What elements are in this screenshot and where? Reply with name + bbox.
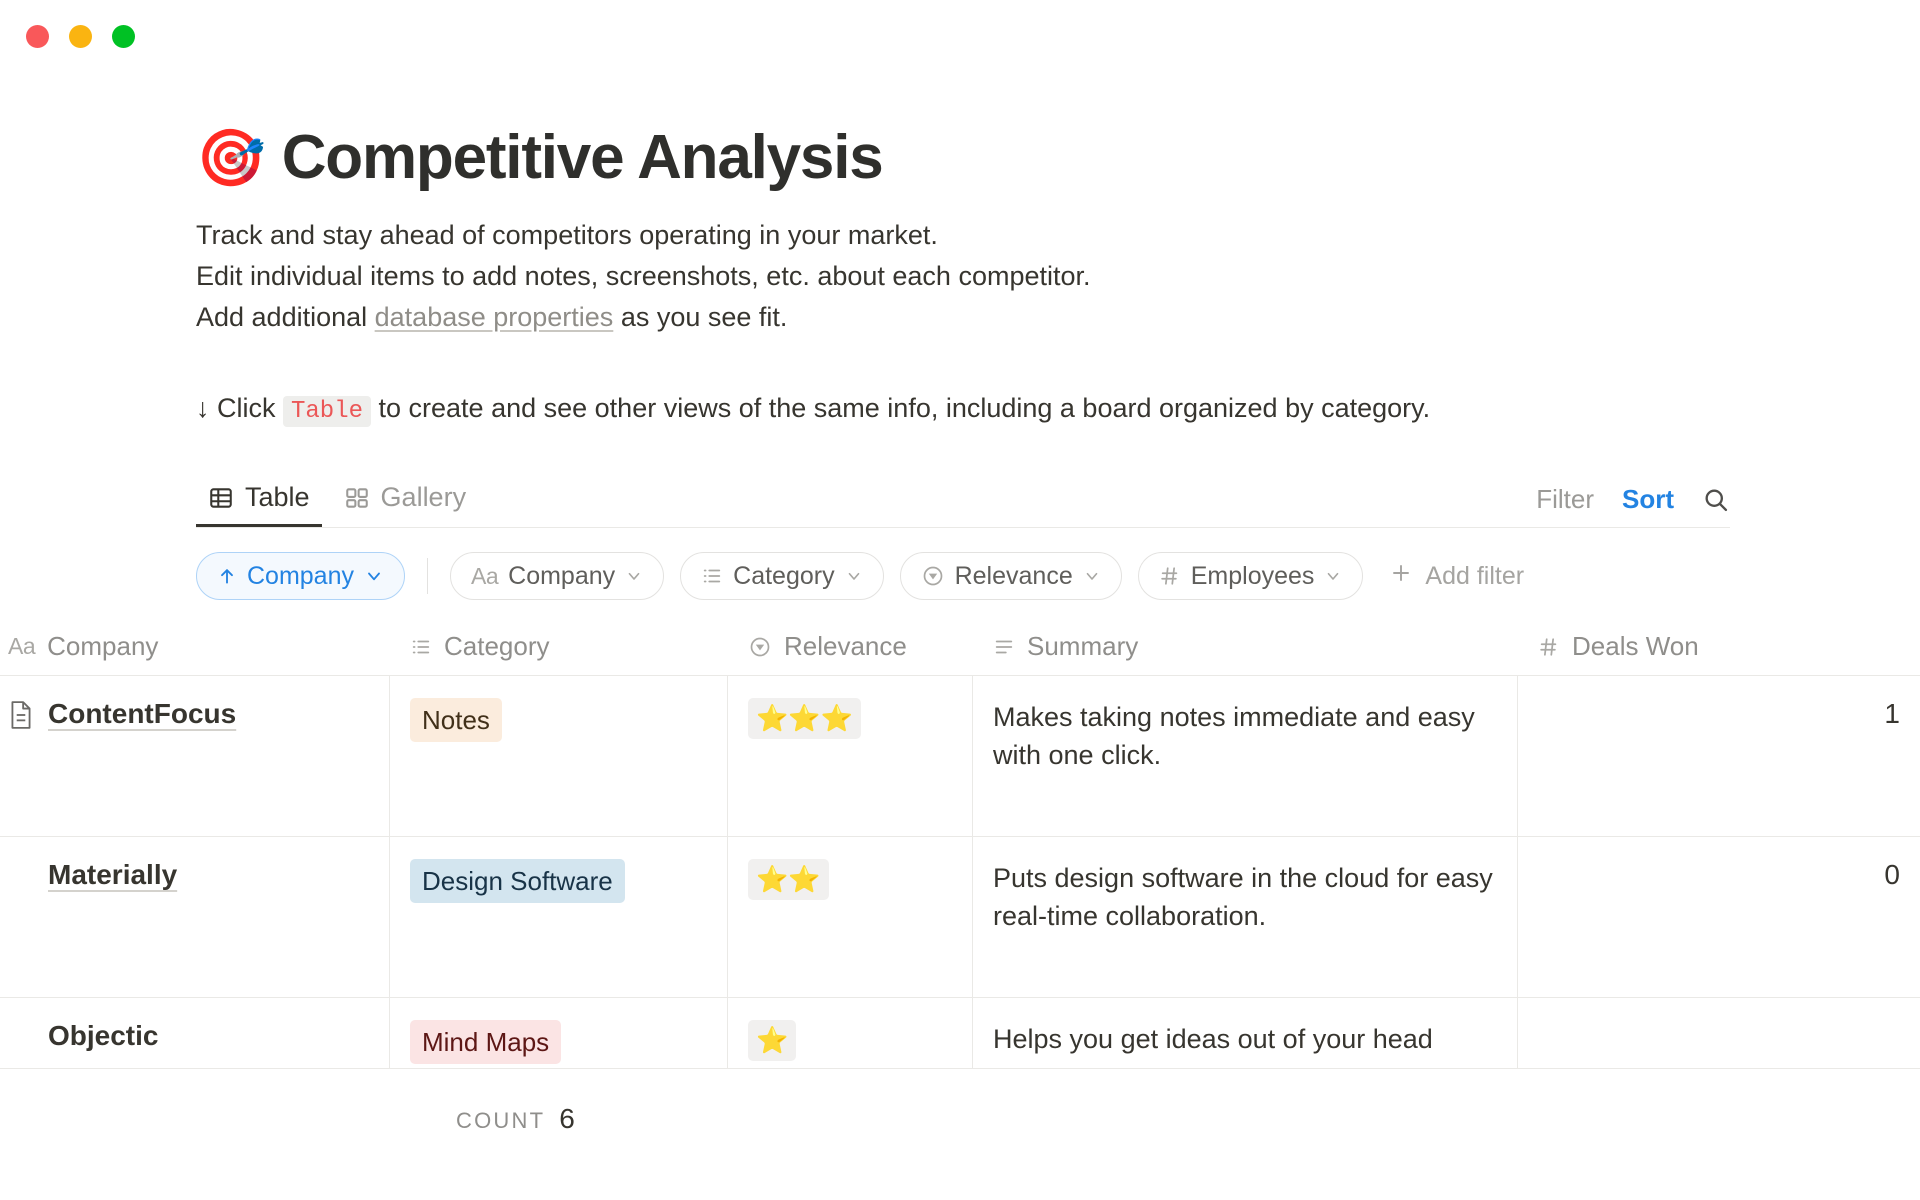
window-titlebar	[0, 0, 1920, 72]
column-header-deals-won[interactable]: Deals Won	[1518, 618, 1920, 676]
plus-icon	[1389, 561, 1413, 592]
description-prefix: Add additional	[196, 302, 375, 332]
column-header-summary[interactable]: Summary	[973, 618, 1518, 676]
cell-relevance[interactable]: ⭐⭐⭐	[728, 676, 973, 836]
tab-table[interactable]: Table	[196, 478, 322, 527]
description-line-1: Track and stay ahead of competitors oper…	[196, 215, 1920, 256]
cell-category[interactable]: Mind Maps	[390, 998, 728, 1068]
table-row[interactable]: Materially Design Software ⭐⭐ Puts desig…	[0, 837, 1920, 998]
aa-icon: Aa	[8, 633, 35, 660]
tab-table-label: Table	[245, 482, 310, 513]
sort-chip-label: Company	[247, 562, 354, 591]
callout-prefix: ↓ Click	[196, 393, 283, 423]
traffic-lights	[26, 25, 135, 48]
select-icon	[921, 564, 945, 588]
column-header-relevance-label: Relevance	[784, 631, 907, 662]
cell-category[interactable]: Notes	[390, 676, 728, 836]
summary-text: Puts design software in the cloud for ea…	[993, 863, 1493, 931]
cell-summary[interactable]: Puts design software in the cloud for ea…	[973, 837, 1518, 997]
search-icon[interactable]	[1702, 486, 1730, 514]
filter-chip-row: Company Aa Company	[196, 552, 1920, 600]
database-properties-link[interactable]: database properties	[375, 302, 614, 332]
tab-gallery[interactable]: Gallery	[332, 478, 479, 527]
filter-chip-employees[interactable]: Employees	[1138, 552, 1364, 600]
deals-won-value: 1	[1884, 698, 1900, 836]
table-row[interactable]: Objectic Mind Maps ⭐ Helps you get ideas…	[0, 998, 1920, 1069]
column-header-summary-label: Summary	[1027, 631, 1138, 662]
table-callout: ↓ Click Table to create and see other vi…	[196, 388, 1920, 430]
chevron-down-icon	[625, 567, 643, 585]
callout-suffix: to create and see other views of the sam…	[371, 393, 1430, 423]
add-filter-button[interactable]: Add filter	[1379, 561, 1534, 592]
description-suffix: as you see fit.	[613, 302, 787, 332]
view-bar: Table Gallery Filter Sort	[196, 478, 1730, 528]
filter-chip-relevance-label: Relevance	[955, 562, 1073, 591]
column-header-company-label: Company	[47, 631, 158, 662]
number-icon	[1159, 565, 1181, 587]
cell-summary[interactable]: Makes taking notes immediate and easy wi…	[973, 676, 1518, 836]
cell-deals-won[interactable]: 1	[1518, 676, 1920, 836]
number-icon	[1538, 636, 1560, 658]
table-row[interactable]: ContentFocus Notes ⭐⭐⭐ Makes taking note…	[0, 676, 1920, 837]
count-label: Count	[456, 1108, 545, 1134]
cell-company[interactable]: Objectic	[0, 998, 390, 1068]
sort-chip-company[interactable]: Company	[196, 552, 405, 600]
relevance-stars: ⭐	[748, 1020, 796, 1061]
text-icon	[993, 636, 1015, 658]
table-header-row: Aa Company Category Relevance	[0, 618, 1920, 676]
column-header-category-label: Category	[444, 631, 550, 662]
view-tabs: Table Gallery	[196, 478, 478, 527]
filter-chip-company[interactable]: Aa Company	[450, 552, 664, 600]
chevron-down-icon	[1324, 567, 1342, 585]
column-header-deals-won-label: Deals Won	[1572, 631, 1699, 662]
filter-chip-employees-label: Employees	[1191, 562, 1315, 591]
column-header-relevance[interactable]: Relevance	[728, 618, 973, 676]
cell-category[interactable]: Design Software	[390, 837, 728, 997]
chip-divider	[427, 558, 428, 594]
cell-relevance[interactable]: ⭐	[728, 998, 973, 1068]
gallery-icon	[344, 485, 370, 511]
filter-chip-relevance[interactable]: Relevance	[900, 552, 1122, 600]
table-icon	[208, 485, 234, 511]
page-content: 🎯 Competitive Analysis Track and stay ah…	[0, 122, 1920, 600]
arrow-up-icon	[217, 565, 237, 587]
column-header-company[interactable]: Aa Company	[0, 618, 390, 676]
filter-chip-company-label: Company	[508, 562, 615, 591]
page-title: Competitive Analysis	[282, 122, 883, 193]
table-footer-count[interactable]: Count 6	[0, 1103, 1920, 1135]
select-icon	[748, 635, 772, 659]
aa-icon: Aa	[471, 563, 498, 590]
window-minimize-button[interactable]	[69, 25, 92, 48]
category-tag: Design Software	[410, 859, 625, 903]
page-description: Track and stay ahead of competitors oper…	[196, 215, 1920, 338]
add-filter-label: Add filter	[1425, 562, 1524, 591]
chevron-down-icon	[1083, 567, 1101, 585]
cell-company[interactable]: Materially	[0, 837, 390, 997]
cell-company[interactable]: ContentFocus	[0, 676, 390, 836]
cell-deals-won[interactable]: 0	[1518, 837, 1920, 997]
window-zoom-button[interactable]	[112, 25, 135, 48]
company-link[interactable]: Objectic	[48, 1020, 158, 1052]
cell-deals-won[interactable]	[1518, 998, 1920, 1068]
database-table: Aa Company Category Relevance	[0, 618, 1920, 1069]
category-tag: Mind Maps	[410, 1020, 561, 1064]
cell-summary[interactable]: Helps you get ideas out of your head	[973, 998, 1518, 1068]
summary-text: Makes taking notes immediate and easy wi…	[993, 702, 1475, 770]
relevance-stars: ⭐⭐	[748, 859, 829, 900]
table-code-chip: Table	[283, 396, 371, 427]
page-icon	[8, 700, 34, 735]
category-tag: Notes	[410, 698, 502, 742]
count-value: 6	[559, 1103, 575, 1135]
multi-select-icon	[701, 565, 723, 587]
sort-button[interactable]: Sort	[1622, 484, 1674, 515]
window-close-button[interactable]	[26, 25, 49, 48]
column-header-category[interactable]: Category	[390, 618, 728, 676]
deals-won-value: 0	[1884, 859, 1900, 997]
chevron-down-icon	[364, 566, 384, 586]
description-line-3: Add additional database properties as yo…	[196, 297, 1920, 338]
filter-button[interactable]: Filter	[1536, 484, 1594, 515]
table-body: ContentFocus Notes ⭐⭐⭐ Makes taking note…	[0, 676, 1920, 1069]
company-link[interactable]: ContentFocus	[48, 698, 236, 730]
cell-relevance[interactable]: ⭐⭐	[728, 837, 973, 997]
page-header: 🎯 Competitive Analysis	[196, 122, 1920, 193]
tab-gallery-label: Gallery	[381, 482, 467, 513]
target-icon: 🎯	[196, 130, 266, 186]
filter-chip-category[interactable]: Category	[680, 552, 883, 600]
view-tools: Filter Sort	[1536, 484, 1730, 527]
company-link[interactable]: Materially	[48, 859, 177, 891]
relevance-stars: ⭐⭐⭐	[748, 698, 861, 739]
description-line-2: Edit individual items to add notes, scre…	[196, 256, 1920, 297]
multi-select-icon	[410, 636, 432, 658]
summary-text: Helps you get ideas out of your head	[993, 1024, 1433, 1054]
chevron-down-icon	[845, 567, 863, 585]
filter-chip-category-label: Category	[733, 562, 834, 591]
